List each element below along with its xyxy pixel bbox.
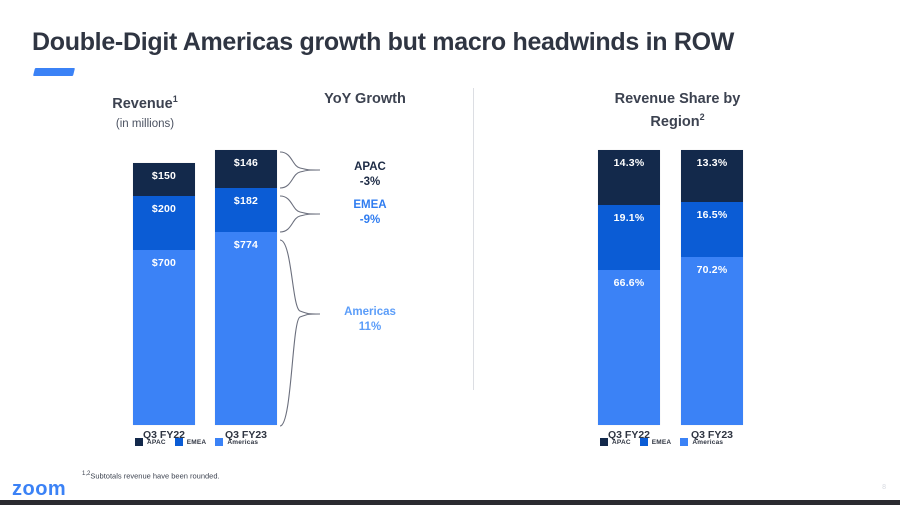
yoy-value-apac: -3% (360, 176, 380, 188)
legend-share-chart: APAC EMEA Americas (600, 438, 723, 446)
zoom-logo: zoom (12, 478, 66, 501)
bar-segment-apac: 13.3% (681, 150, 743, 202)
grouping-braces-icon (278, 148, 326, 430)
legend-label-apac: APAC (147, 439, 166, 446)
yoy-value-emea: -9% (360, 214, 380, 226)
footnote: 1,2Subtotals revenue have been rounded. (82, 471, 220, 481)
legend-item-apac: APAC (135, 438, 166, 446)
bar-segment-emea: $200 (133, 196, 195, 250)
yoy-label-emea: EMEA -9% (305, 198, 435, 228)
yoy-label-apac: APAC -3% (305, 160, 435, 190)
legend-swatch-apac-icon (135, 438, 143, 446)
page-number: 8 (882, 484, 886, 491)
bar-segment-americas: $700 (133, 250, 195, 425)
section-divider (473, 88, 474, 390)
bar-segment-apac: 14.3% (598, 150, 660, 205)
share-heading-footnote-marker: 2 (700, 112, 705, 122)
revenue-bar-q3fy22: $150 $200 $700 (133, 163, 195, 425)
legend-item-apac: APAC (600, 438, 631, 446)
share-bar-q3fy22: 14.3% 19.1% 66.6% (598, 150, 660, 425)
slide-canvas: Double-Digit Americas growth but macro h… (0, 0, 900, 505)
share-heading-line2: Region (650, 114, 699, 130)
bar-segment-americas: $774 (215, 232, 277, 425)
legend-label-americas: Americas (227, 439, 258, 446)
legend-item-americas: Americas (680, 438, 723, 446)
yoy-region-americas: Americas (344, 306, 396, 318)
share-column-heading: Revenue Share by Region2 (580, 90, 775, 131)
bar-segment-emea: $182 (215, 188, 277, 232)
revenue-column-heading: Revenue1 (in millions) (75, 90, 215, 133)
yoy-column-heading: YoY Growth (290, 90, 440, 108)
title-accent-bar (33, 68, 75, 76)
legend-swatch-americas-icon (215, 438, 223, 446)
bar-segment-apac: $150 (133, 163, 195, 196)
page-title: Double-Digit Americas growth but macro h… (32, 28, 872, 57)
legend-swatch-americas-icon (680, 438, 688, 446)
legend-item-emea: EMEA (175, 438, 207, 446)
footnote-text: Subtotals revenue have been rounded. (90, 472, 219, 481)
legend-swatch-emea-icon (640, 438, 648, 446)
revenue-heading-label: Revenue (112, 96, 172, 112)
revenue-heading-subtitle: (in millions) (75, 115, 215, 133)
yoy-label-americas: Americas 11% (305, 305, 435, 335)
revenue-heading-footnote-marker: 1 (173, 94, 178, 104)
share-heading-line1: Revenue Share by (615, 91, 741, 107)
legend-label-americas: Americas (692, 439, 723, 446)
bar-segment-americas: 66.6% (598, 270, 660, 425)
legend-revenue-chart: APAC EMEA Americas (135, 438, 258, 446)
legend-label-apac: APAC (612, 439, 631, 446)
bar-segment-americas: 70.2% (681, 257, 743, 425)
legend-label-emea: EMEA (652, 439, 672, 446)
bar-segment-emea: 19.1% (598, 205, 660, 270)
legend-swatch-emea-icon (175, 438, 183, 446)
legend-item-americas: Americas (215, 438, 258, 446)
yoy-region-apac: APAC (354, 161, 386, 173)
bar-segment-apac: $146 (215, 150, 277, 188)
bar-segment-emea: 16.5% (681, 202, 743, 257)
legend-label-emea: EMEA (187, 439, 207, 446)
legend-swatch-apac-icon (600, 438, 608, 446)
yoy-region-emea: EMEA (353, 199, 386, 211)
yoy-value-americas: 11% (359, 321, 381, 333)
legend-item-emea: EMEA (640, 438, 672, 446)
share-bar-q3fy23: 13.3% 16.5% 70.2% (681, 150, 743, 425)
revenue-bar-q3fy23: $146 $182 $774 (215, 150, 277, 425)
